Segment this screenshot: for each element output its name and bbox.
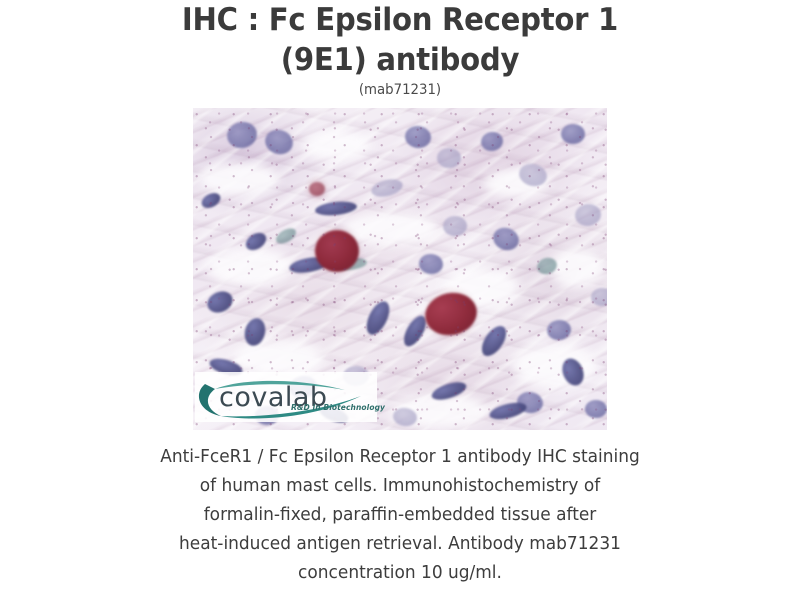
covalab-watermark: covalab R&D in Biotechnology: [195, 372, 377, 422]
caption-line: Anti-FceR1 / Fc Epsilon Receptor 1 antib…: [12, 443, 788, 472]
micrograph-figure: covalab R&D in Biotechnology: [193, 108, 607, 430]
caption-line: of human mast cells. Immunohistochemistr…: [12, 472, 788, 501]
title-line-2: (9E1) antibody: [24, 40, 776, 80]
catalog-number: (mab71231): [20, 81, 780, 99]
page-title: IHC : Fc Epsilon Receptor 1 (9E1) antibo…: [0, 0, 800, 99]
figure-page: IHC : Fc Epsilon Receptor 1 (9E1) antibo…: [0, 0, 800, 600]
figure-caption: Anti-FceR1 / Fc Epsilon Receptor 1 antib…: [0, 443, 800, 588]
micrograph-image: covalab R&D in Biotechnology: [193, 108, 607, 430]
caption-line: formalin-fixed, paraffin-embedded tissue…: [12, 501, 788, 530]
caption-line: concentration 10 ug/ml.: [12, 559, 788, 588]
title-line-1: IHC : Fc Epsilon Receptor 1: [24, 0, 776, 40]
caption-line: heat-induced antigen retrieval. Antibody…: [12, 530, 788, 559]
covalab-logo-icon: covalab: [195, 372, 377, 422]
covalab-tagline: R&D in Biotechnology: [291, 403, 385, 412]
